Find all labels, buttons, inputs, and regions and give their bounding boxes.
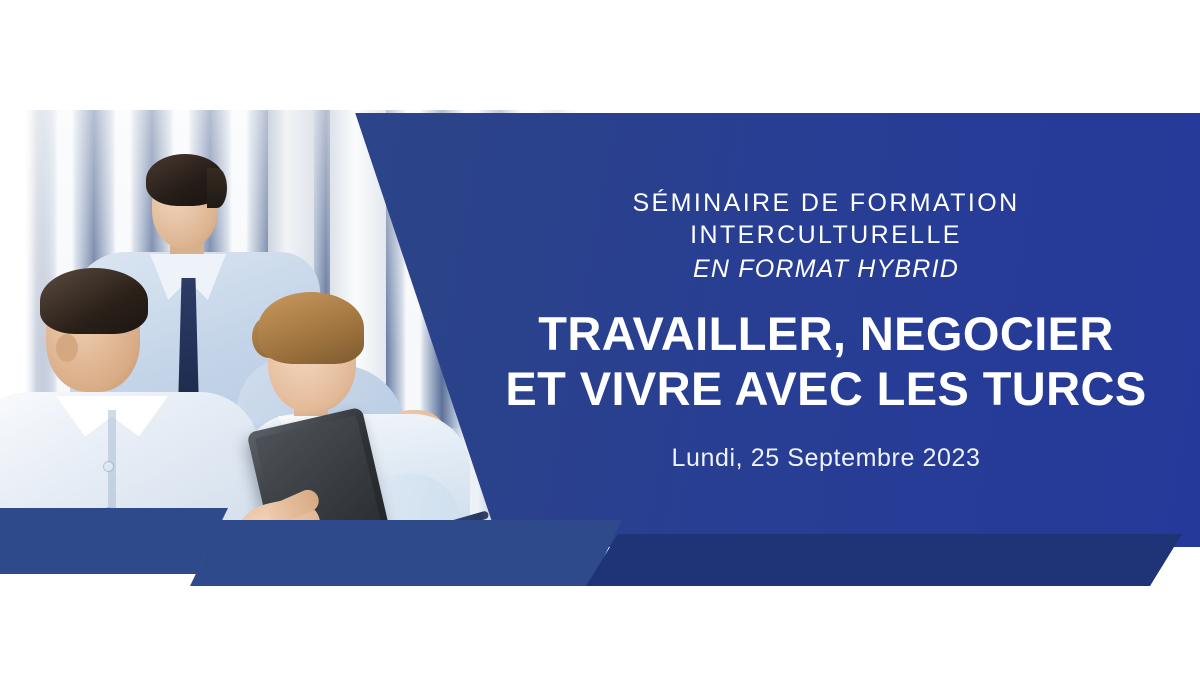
seated-man-shirt-button <box>104 462 113 471</box>
headline-line-1: TRAVAILLER, NEGOCIER <box>538 307 1114 360</box>
seated-man-ear <box>56 334 78 362</box>
subtitle-line-1: SÉMINAIRE DE FORMATION <box>632 189 1019 217</box>
banner-text-block: SÉMINAIRE DE FORMATION INTERCULTURELLE E… <box>452 113 1200 547</box>
seminar-subtitle: SÉMINAIRE DE FORMATION INTERCULTURELLE E… <box>632 187 1019 285</box>
standing-man-hair <box>146 154 224 206</box>
seminar-banner: SÉMINAIRE DE FORMATION INTERCULTURELLE E… <box>0 0 1200 675</box>
event-date: Lundi, 25 Septembre 2023 <box>671 444 980 473</box>
page-title: TRAVAILLER, NEGOCIER ET VIVRE AVEC LES T… <box>505 307 1146 416</box>
woman-hair <box>258 292 364 364</box>
subtitle-line-2: INTERCULTURELLE <box>632 219 1019 251</box>
seated-man-hair <box>40 268 148 334</box>
headline-line-2: ET VIVRE AVEC LES TURCS <box>505 362 1146 417</box>
subtitle-format-note: EN FORMAT HYBRID <box>632 253 1019 285</box>
